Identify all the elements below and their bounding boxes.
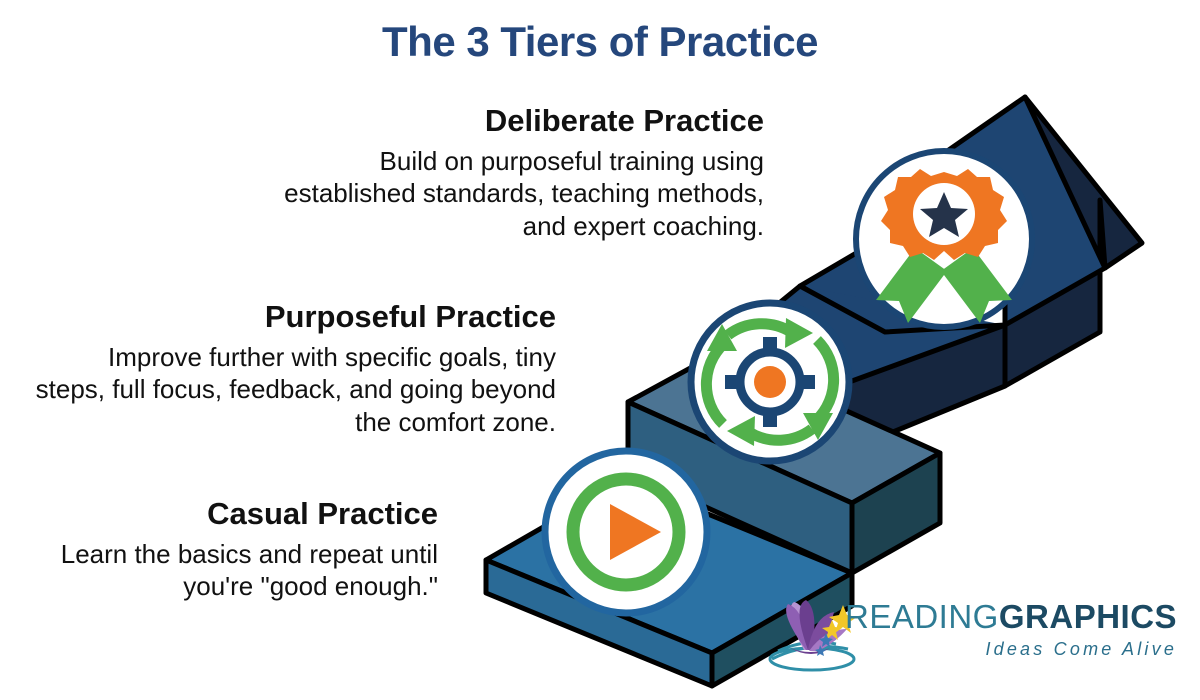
tier-description: Learn the basics and repeat until you're… bbox=[10, 538, 438, 604]
tier-heading: Deliberate Practice bbox=[250, 104, 764, 139]
play-button-icon bbox=[545, 451, 707, 613]
infographic-canvas: The 3 Tiers of Practice Deliberate Pract… bbox=[0, 0, 1200, 700]
target-cycle-icon bbox=[691, 303, 849, 461]
tier-description: Build on purposeful training using estab… bbox=[250, 145, 764, 243]
logo-wordmark: READINGGRAPHICS bbox=[845, 600, 1177, 633]
award-ribbon-icon bbox=[856, 151, 1032, 327]
tier-description: Improve further with specific goals, tin… bbox=[32, 341, 556, 439]
logo-wordmark-graphics: GRAPHICS bbox=[999, 598, 1177, 635]
logo-wordmark-reading: READING bbox=[845, 598, 999, 635]
tier-purposeful-practice: Purposeful Practice Improve further with… bbox=[32, 300, 556, 439]
tier-deliberate-practice: Deliberate Practice Build on purposeful … bbox=[250, 104, 764, 243]
page-title: The 3 Tiers of Practice bbox=[0, 18, 1200, 66]
tier-casual-practice: Casual Practice Learn the basics and rep… bbox=[10, 497, 438, 603]
readingraphics-logo: READINGGRAPHICS Ideas Come Alive bbox=[845, 600, 1177, 660]
tier-heading: Purposeful Practice bbox=[32, 300, 556, 335]
tier-heading: Casual Practice bbox=[10, 497, 438, 532]
logo-tagline: Ideas Come Alive bbox=[845, 639, 1177, 660]
